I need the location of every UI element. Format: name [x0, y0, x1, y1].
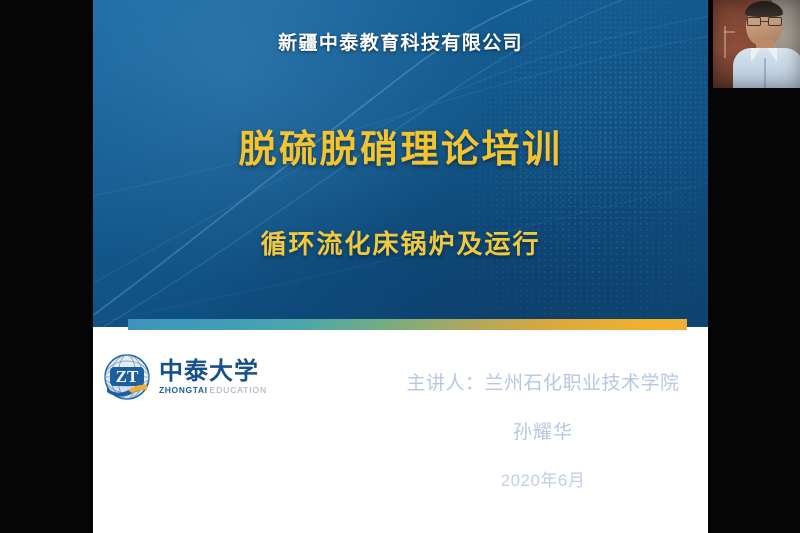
- logo-text-block: 中泰大学 ZHONGTAI EDUCATION: [159, 360, 267, 395]
- presentation-date: 2020年6月: [383, 466, 703, 491]
- screen-capture: 新疆中泰教育科技有限公司 脱硫脱硝理论培训 循环流化床锅炉及运行: [0, 0, 800, 533]
- presenter-info-block: 主讲人：兰州石化职业技术学院 孙耀华 2020年6月: [383, 368, 703, 491]
- glasses-lens-left: [747, 17, 761, 26]
- presenter-collar-right: [767, 48, 777, 62]
- presenter-video-overlay[interactable]: [713, 0, 800, 88]
- logo-chinese-name: 中泰大学: [159, 360, 267, 384]
- gradient-accent-bar: [128, 319, 687, 330]
- presenter-shirt-placket: [764, 58, 766, 88]
- glasses-lens-right: [768, 17, 782, 26]
- letterbox-bar-left: [0, 0, 93, 533]
- slide-white-panel: ZT 中泰大学 ZHONGTAI EDUCATION 主讲人：兰州石化职业技术学…: [93, 330, 708, 533]
- presenter-name: 孙耀华: [383, 417, 703, 444]
- presenter-affiliation: 主讲人：兰州石化职业技术学院: [383, 368, 703, 395]
- logo-english-name: ZHONGTAI EDUCATION: [159, 386, 267, 395]
- presenter-collar-left: [751, 48, 761, 62]
- presentation-slide: 新疆中泰教育科技有限公司 脱硫脱硝理论培训 循环流化床锅炉及运行: [93, 0, 708, 533]
- zhongtai-globe-icon: ZT: [102, 352, 152, 402]
- slide-blue-panel: 新疆中泰教育科技有限公司 脱硫脱硝理论培训 循环流化床锅炉及运行: [93, 0, 708, 327]
- svg-text:ZT: ZT: [116, 367, 139, 386]
- zhongtai-logo: ZT 中泰大学 ZHONGTAI EDUCATION: [102, 352, 267, 402]
- company-name-heading: 新疆中泰教育科技有限公司: [93, 28, 708, 55]
- slide-main-title: 脱硫脱硝理论培训: [93, 118, 708, 173]
- video-background-edge-horizontal: [724, 31, 735, 33]
- logo-english-zhongtai: ZHONGTAI: [159, 386, 208, 395]
- presenter-glasses-icon: [747, 17, 782, 26]
- slide-sub-title: 循环流化床锅炉及运行: [93, 224, 708, 261]
- logo-english-education: EDUCATION: [210, 386, 268, 395]
- glasses-bridge: [761, 21, 768, 22]
